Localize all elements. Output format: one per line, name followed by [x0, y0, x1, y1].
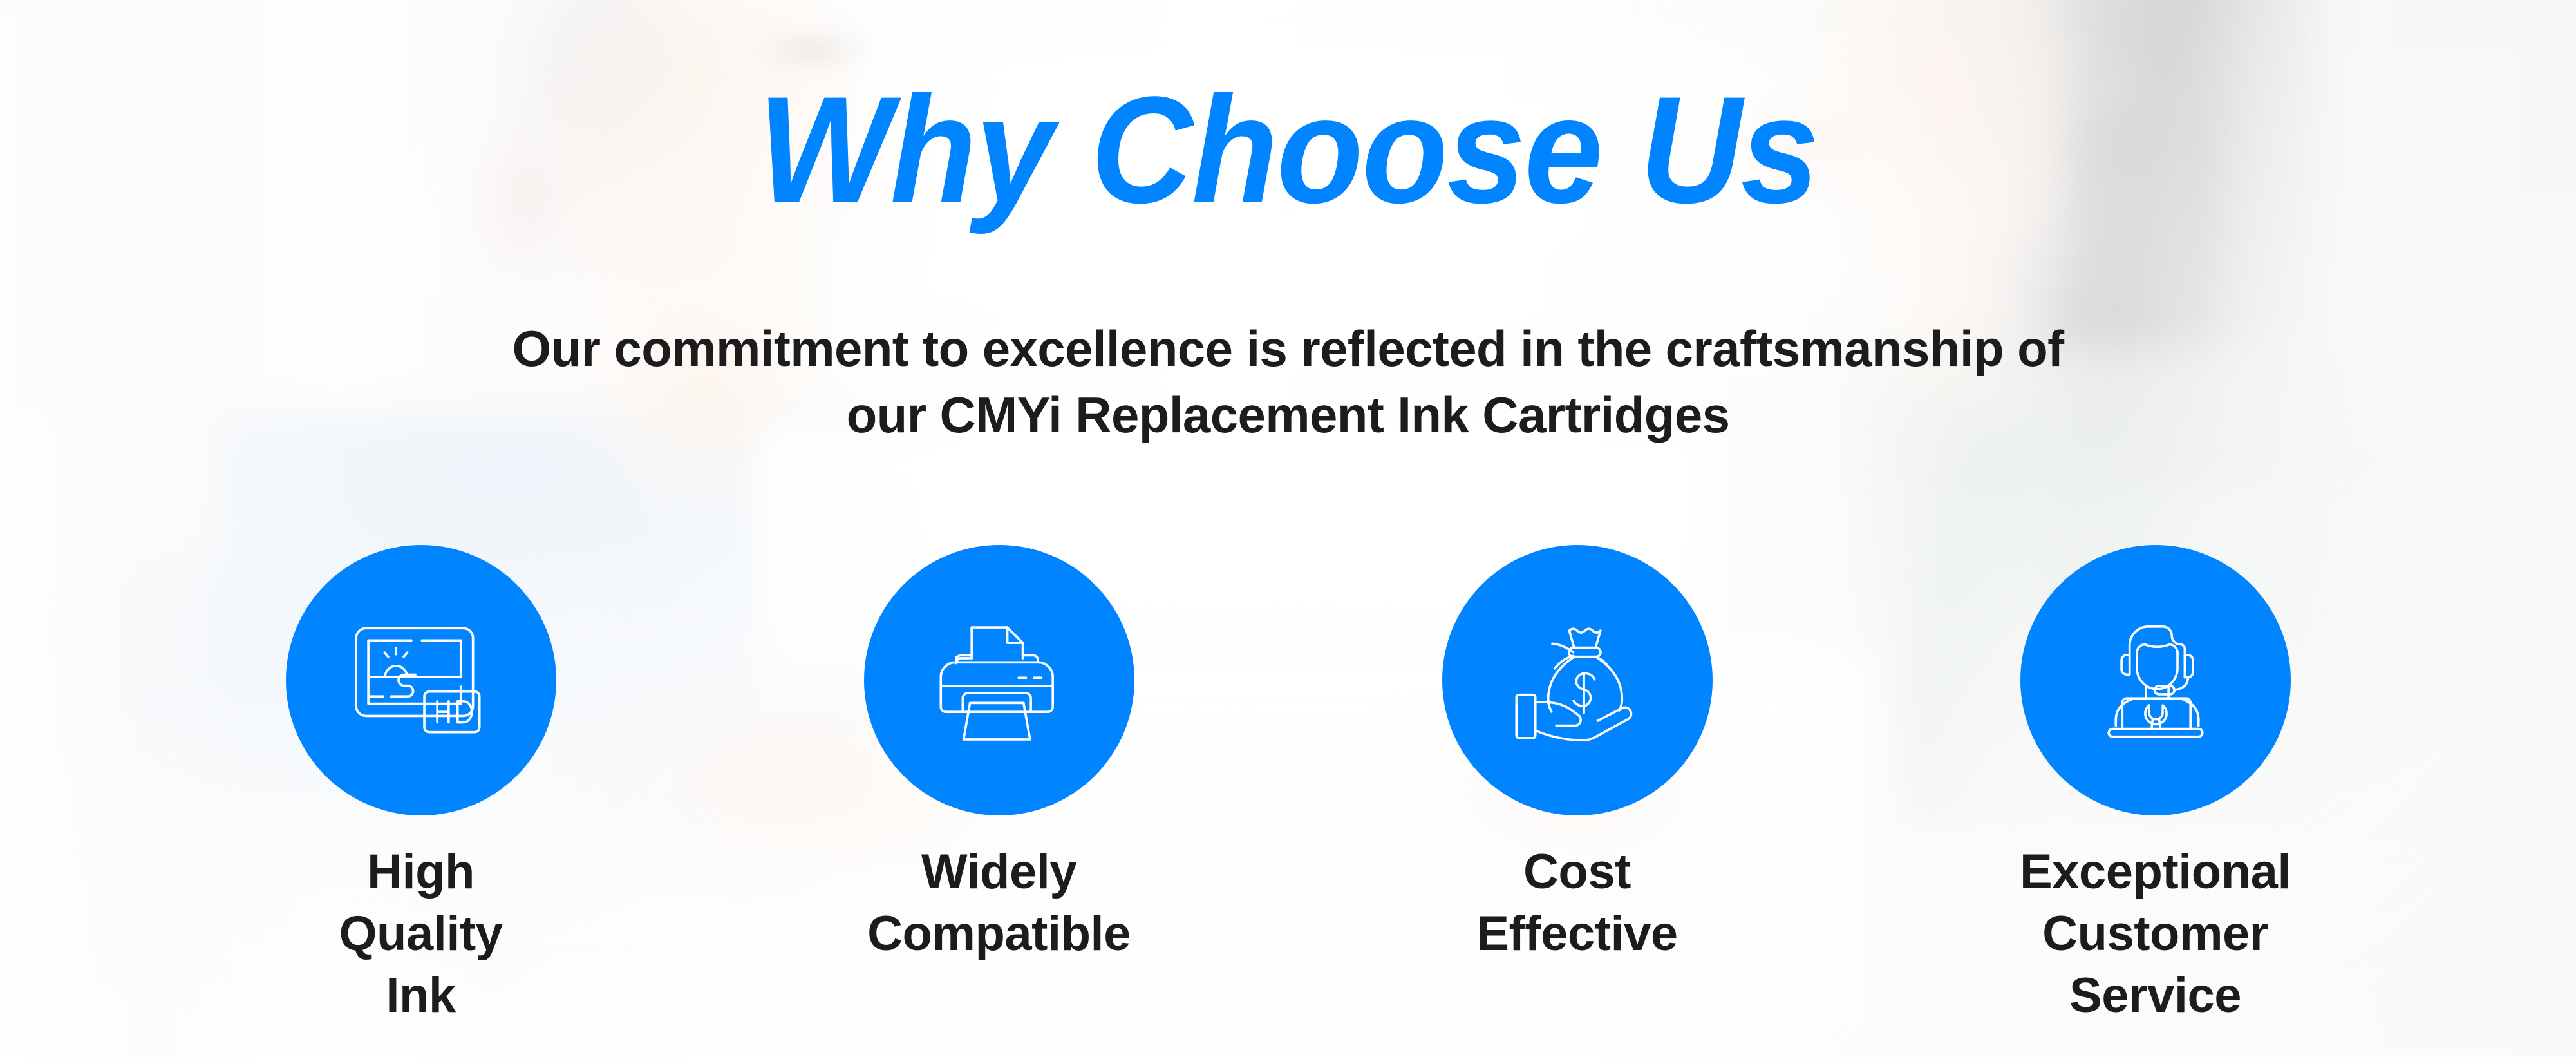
banner-content: Why Choose Us Our commitment to excellen…: [0, 0, 2576, 1057]
feature-icon-badge: [2020, 545, 2291, 815]
feature-list: High Quality Ink: [0, 545, 2576, 1026]
page-subtitle: Our commitment to excellence is reflecte…: [0, 316, 2576, 448]
subtitle-line-1: Our commitment to excellence is reflecte…: [512, 320, 2064, 377]
feature-icon-badge: [1442, 545, 1713, 815]
feature-caption: Widely Compatible: [867, 841, 1131, 965]
feature-item-customer-service: Exceptional Customer Service: [2020, 545, 2291, 1026]
page-title: Why Choose Us: [90, 74, 2486, 226]
feature-icon-badge: [864, 545, 1134, 815]
hd-image-icon: [340, 599, 502, 761]
feature-item-high-quality-ink: High Quality Ink: [286, 545, 556, 1026]
support-agent-headset-laptop-icon: [2074, 599, 2237, 761]
why-choose-us-banner: Why Choose Us Our commitment to excellen…: [0, 0, 2576, 1057]
feature-caption: Exceptional Customer Service: [2020, 841, 2291, 1026]
feature-item-cost-effective: Cost Effective: [1442, 545, 1713, 965]
subtitle-line-2: our CMYi Replacement Ink Cartridges: [0, 382, 2576, 448]
feature-caption: Cost Effective: [1476, 841, 1677, 965]
printer-icon: [918, 599, 1080, 761]
feature-icon-badge: [286, 545, 556, 815]
feature-item-widely-compatible: Widely Compatible: [864, 545, 1134, 965]
feature-caption: High Quality Ink: [286, 841, 556, 1026]
money-bag-in-hand-icon: [1496, 599, 1659, 761]
